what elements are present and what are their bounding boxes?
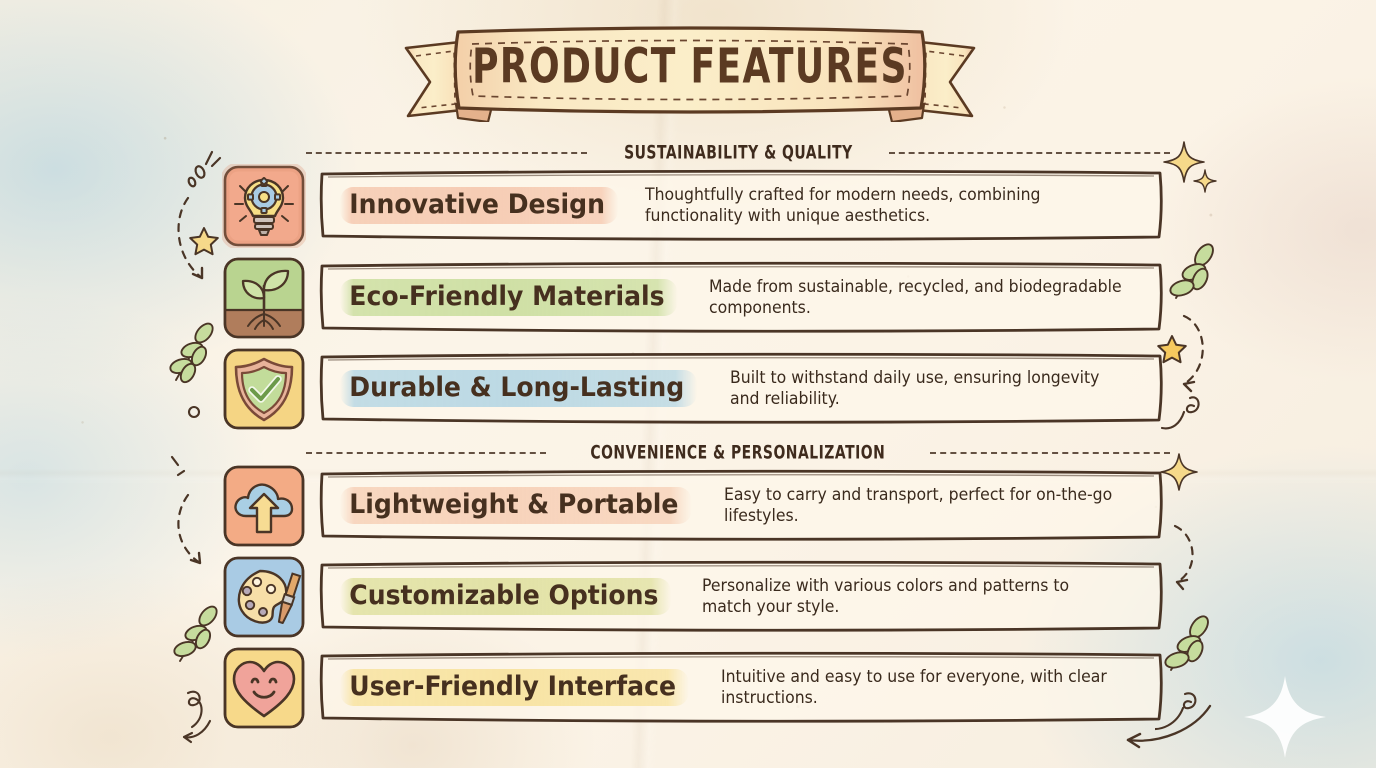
white-sparkle (1240, 672, 1330, 762)
feature-description: Thoughtfully crafted for modern needs, c… (645, 184, 1138, 226)
feature-title: Innovative Design (340, 187, 618, 224)
dashed-rule-left (306, 452, 546, 454)
feature-bar[interactable]: Durable & Long-Lasting Built to withstan… (318, 351, 1164, 425)
section-label: CONVENIENCE & PERSONALIZATION (591, 442, 886, 464)
feature-description: Intuitive and easy to use for everyone, … (721, 666, 1142, 708)
section-header-sustainability: SUSTAINABILITY & QUALITY (306, 141, 1170, 165)
infographic-page: PRODUCT FEATURES SUSTAINABILITY & QUALIT… (0, 0, 1376, 768)
swirl-doodle (184, 692, 210, 742)
feature-bar[interactable]: Innovative Design Thoughtfully crafted f… (318, 168, 1164, 242)
feature-title: Customizable Options (340, 578, 672, 615)
palette-brush-icon (222, 555, 306, 639)
feature-title: Eco-Friendly Materials (340, 279, 678, 316)
dashed-rule-right (889, 152, 1170, 154)
leaf-branch-icon (173, 603, 221, 661)
small-circle-dot (189, 407, 199, 417)
seedling-soil-icon (222, 256, 306, 340)
smiling-heart-icon (222, 646, 306, 730)
page-title: PRODUCT FEATURES (435, 9, 945, 122)
feature-bar[interactable]: Eco-Friendly Materials Made from sustain… (318, 260, 1164, 334)
lightbulb-gear-icon (222, 164, 306, 248)
shield-check-icon (222, 347, 306, 431)
feature-description: Built to withstand daily use, ensuring l… (730, 367, 1142, 409)
right-margin-doodles-lower (1155, 440, 1275, 760)
feature-bar[interactable]: User-Friendly Interface Intuitive and ea… (318, 650, 1164, 724)
dashed-rule-right (930, 452, 1170, 454)
four-point-sparkle (1164, 142, 1204, 182)
section-header-convenience: CONVENIENCE & PERSONALIZATION (306, 441, 1170, 465)
leaf-branch-icon (169, 320, 217, 384)
dashed-rule-left (306, 152, 587, 154)
left-margin-doodles (168, 150, 228, 450)
cloud-upload-icon (222, 464, 306, 548)
feature-description: Made from sustainable, recycled, and bio… (709, 276, 1141, 318)
title-banner: PRODUCT FEATURES (400, 18, 980, 122)
leaf-branch-icon (1168, 241, 1216, 298)
feature-bar[interactable]: Lightweight & Portable Easy to carry and… (318, 468, 1164, 542)
small-sparkle (1194, 170, 1216, 192)
feature-title: Lightweight & Portable (340, 487, 691, 524)
feature-title: User-Friendly Interface (340, 669, 689, 706)
section-label: SUSTAINABILITY & QUALITY (624, 142, 853, 164)
swirl-doodle (1162, 397, 1199, 428)
leaf-branch-icon (1163, 613, 1211, 670)
feature-description: Personalize with various colors and patt… (702, 575, 1140, 617)
feature-title: Durable & Long-Lasting (340, 370, 697, 407)
star-icon (190, 228, 218, 254)
feature-description: Easy to carry and transport, perfect for… (724, 484, 1142, 526)
feature-bar[interactable]: Customizable Options Personalize with va… (318, 559, 1164, 633)
right-margin-doodles (1150, 140, 1270, 440)
